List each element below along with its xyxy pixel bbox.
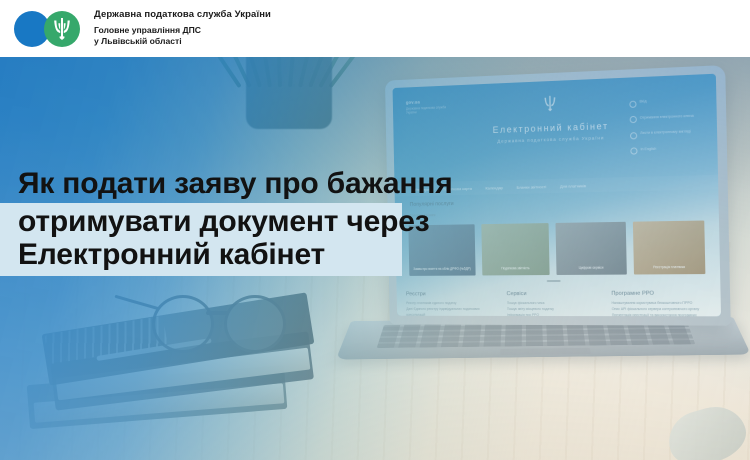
ek-right-item-english[interactable]: In English	[630, 145, 705, 155]
ek-column-link[interactable]: Інформація про РРО	[507, 313, 602, 316]
globe-icon	[630, 147, 637, 154]
carousel-indicator[interactable]	[546, 280, 560, 282]
glasses-bridge	[206, 311, 228, 315]
ek-column-prro: Програмне РРО Налаштування користувача б…	[611, 291, 710, 317]
hero-headline: Як подати заяву про бажання отримувати д…	[0, 167, 420, 276]
ek-card[interactable]: Реєстрація платника	[632, 220, 705, 274]
govua-sublabel: Державна податкова служба України	[406, 105, 449, 115]
eyeglasses	[150, 289, 295, 351]
ek-nav-item-calendar[interactable]: Календар	[485, 185, 503, 190]
glasses-right-lens	[224, 295, 286, 353]
plant-pot	[246, 57, 332, 129]
hero-banner-image: gov.ua Державна податкова служба України	[0, 57, 750, 460]
ek-right-label: Листи в електронному вигляді	[640, 129, 691, 136]
ek-column-registers: Реєстри Реєстр платників єдиного податку…	[406, 291, 498, 316]
trident-icon	[52, 17, 72, 41]
organisation-logo[interactable]	[14, 9, 88, 49]
page-root: Державна податкова служба України Головн…	[0, 0, 750, 460]
ek-right-label: In English	[640, 146, 656, 152]
department-line-2: у Львівській області	[94, 36, 271, 47]
header-text-block: Державна податкова служба України Головн…	[94, 10, 271, 48]
ek-link-columns: Реєстри Реєстр платників єдиного податку…	[406, 291, 711, 317]
headline-line-2: отримувати документ через	[0, 205, 429, 239]
ek-card[interactable]: Податкова звітність	[481, 223, 550, 275]
ek-column-title: Реєстри	[406, 291, 497, 297]
ek-column-link[interactable]: консультацій	[406, 313, 497, 317]
ek-right-label: Отримання електронного ключа	[640, 113, 694, 120]
ek-card-caption: Цифрові сервіси	[556, 265, 626, 270]
headline-highlight-block: отримувати документ через Електронний ка…	[0, 203, 402, 276]
ek-right-label: Вхід	[639, 99, 646, 104]
ek-right-item-login[interactable]: Вхід	[629, 97, 704, 108]
organisation-title: Державна податкова служба України	[94, 10, 271, 21]
ek-right-item-mail[interactable]: Листи в електронному вигляді	[630, 129, 705, 139]
mail-icon	[630, 132, 637, 139]
headline-line-1: Як подати заяву про бажання	[0, 167, 453, 201]
ek-column-title: Сервіси	[507, 291, 602, 297]
department-line-1: Головне управління ДПС	[94, 25, 271, 36]
ek-nav-item-payers[interactable]: Для платників	[560, 183, 586, 189]
ek-nav-item-forms[interactable]: Бланки звітності	[516, 184, 546, 190]
ek-card-caption: Податкова звітність	[482, 266, 550, 271]
ek-column-title: Програмне РРО	[611, 291, 710, 297]
site-header: Державна податкова служба України Головн…	[0, 0, 750, 57]
laptop-trackpad	[500, 348, 591, 355]
ek-column-link[interactable]: Презентація реєстрації та використання п…	[612, 313, 711, 316]
ek-card-list: Заява про взяття на облік ДРФО (№5ДР) По…	[408, 220, 705, 275]
govua-logo[interactable]: gov.ua Державна податкова служба України	[406, 98, 450, 114]
headline-line-3: Електронний кабінет	[0, 238, 325, 272]
glasses-left-lens	[152, 295, 214, 353]
laptop-keyboard	[377, 322, 696, 348]
ek-card[interactable]: Цифрові сервіси	[555, 222, 626, 275]
ek-right-menu: Вхід Отримання електронного ключа Листи …	[629, 97, 705, 163]
info-icon	[630, 116, 637, 123]
ek-column-services: Сервіси Пошук фіскального чека Пошук зві…	[507, 291, 602, 316]
trident-icon	[542, 95, 556, 113]
login-icon	[629, 100, 636, 107]
ek-right-item-key[interactable]: Отримання електронного ключа	[630, 113, 705, 123]
ek-card-caption: Реєстрація платника	[633, 265, 705, 270]
